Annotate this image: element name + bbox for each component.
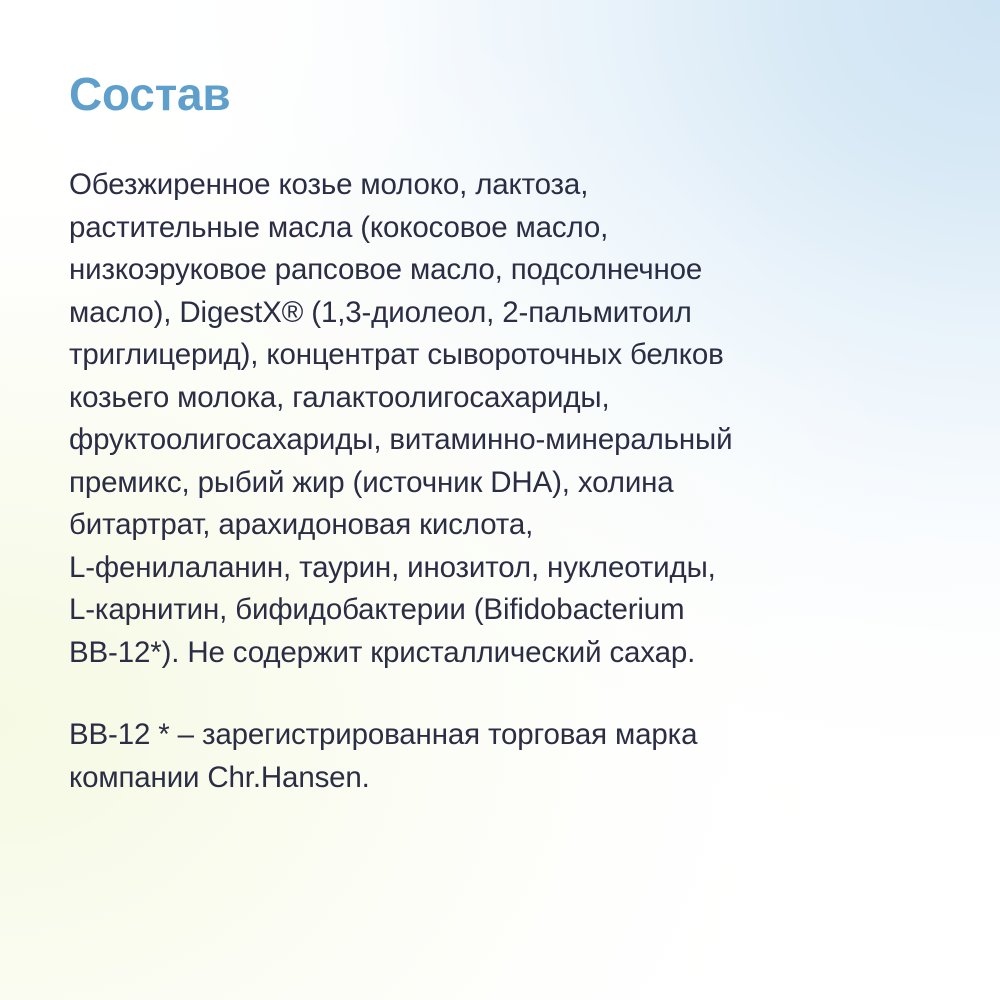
ingredients-paragraph: Обезжиренное козье молоко, лактоза, раст… [69, 164, 939, 674]
trademark-footnote-paragraph: BB-12 * – зарегистрированная торговая ма… [69, 714, 939, 799]
page-title: Состав [69, 66, 231, 122]
product-info-slide: Состав Обезжиренное козье молоко, лактоз… [0, 0, 1000, 1000]
composition-text-block: Обезжиренное козье молоко, лактоза, раст… [69, 164, 939, 799]
